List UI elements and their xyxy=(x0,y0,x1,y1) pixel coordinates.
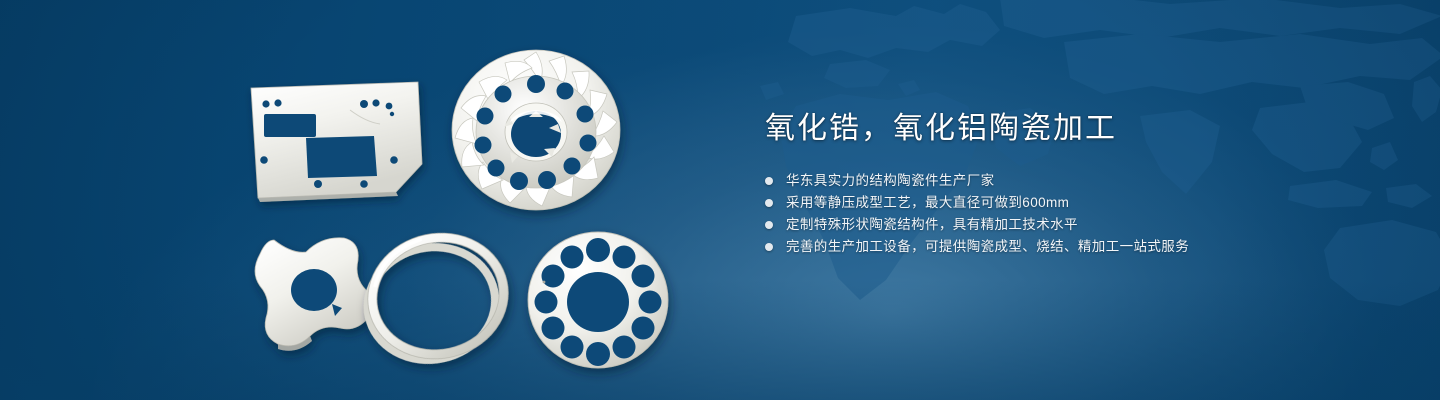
bullet-dot-icon xyxy=(765,177,773,185)
list-item: 华东具实力的结构陶瓷件生产厂家 xyxy=(765,170,1365,192)
bullet-dot-icon xyxy=(765,221,773,229)
list-item: 完善的生产加工设备，可提供陶瓷成型、烧结、精加工一站式服务 xyxy=(765,236,1365,258)
bullet-dot-icon xyxy=(765,243,773,251)
bullet-dot-icon xyxy=(765,199,773,207)
ceramic-perforated-disc xyxy=(522,226,674,376)
list-item: 定制特殊形状陶瓷结构件，具有精加工技术水平 xyxy=(765,214,1365,236)
list-item-label: 华东具实力的结构陶瓷件生产厂家 xyxy=(786,170,995,192)
list-item: 采用等静压成型工艺，最大直径可做到600mm xyxy=(765,192,1365,214)
product-photo-collage xyxy=(232,38,712,378)
ceramic-machined-plate xyxy=(246,80,424,202)
list-item-label: 完善的生产加工设备，可提供陶瓷成型、烧结、精加工一站式服务 xyxy=(786,236,1189,258)
banner-copy: 氧化锆，氧化铝陶瓷加工 华东具实力的结构陶瓷件生产厂家 采用等静压成型工艺，最大… xyxy=(765,108,1365,258)
page-title: 氧化锆，氧化铝陶瓷加工 xyxy=(765,108,1365,150)
ceramic-thin-ring xyxy=(358,226,518,368)
list-item-label: 采用等静压成型工艺，最大直径可做到600mm xyxy=(786,192,1069,214)
ceramic-vaned-impeller xyxy=(448,44,624,212)
list-item-label: 定制特殊形状陶瓷结构件，具有精加工技术水平 xyxy=(786,214,1078,236)
hero-banner: 氧化锆，氧化铝陶瓷加工 华东具实力的结构陶瓷件生产厂家 采用等静压成型工艺，最大… xyxy=(0,0,1440,400)
feature-list: 华东具实力的结构陶瓷件生产厂家 采用等静压成型工艺，最大直径可做到600mm 定… xyxy=(765,170,1365,258)
